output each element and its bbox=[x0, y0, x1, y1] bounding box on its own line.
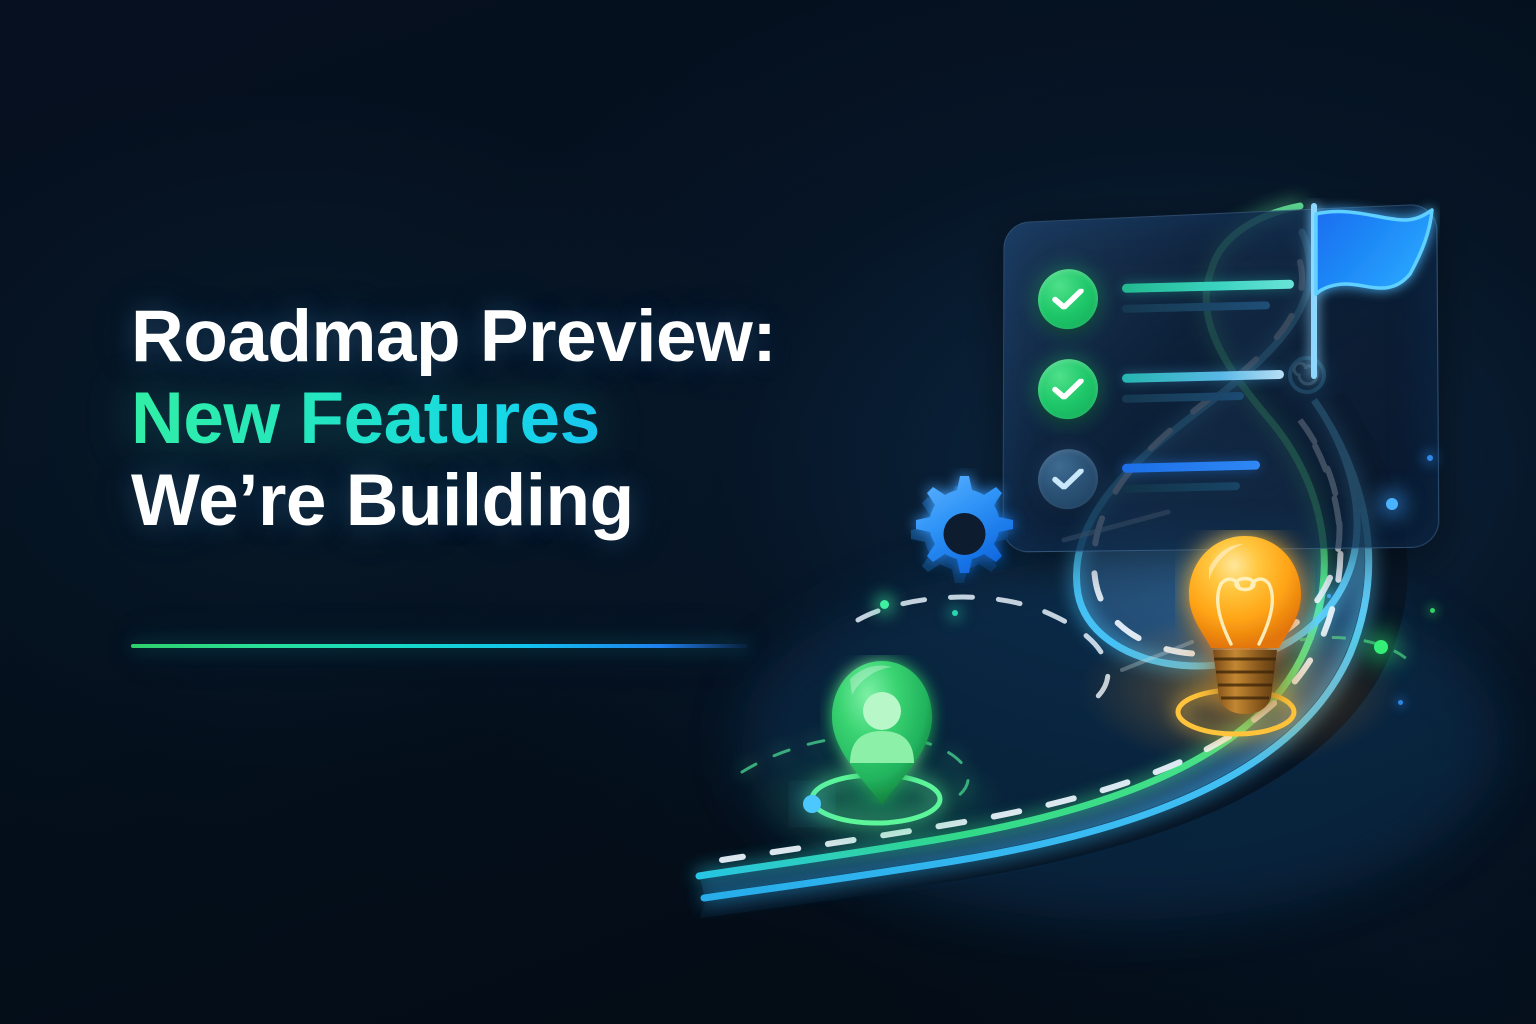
check-circle-complete[interactable] bbox=[1038, 268, 1098, 329]
checklist-line-secondary bbox=[1122, 391, 1244, 402]
check-icon bbox=[1052, 289, 1084, 310]
pin-ring-spark bbox=[803, 795, 821, 813]
check-icon bbox=[1052, 469, 1084, 490]
particle bbox=[880, 600, 889, 609]
checklist-line-secondary bbox=[1122, 301, 1270, 313]
checklist-line-primary bbox=[1122, 279, 1294, 292]
bulb-glass bbox=[1189, 536, 1301, 648]
particle bbox=[1398, 700, 1403, 705]
lightbulb-icon[interactable] bbox=[1175, 530, 1315, 730]
headline-line-1: Roadmap Preview: bbox=[131, 296, 891, 378]
headline-block: Roadmap Preview: New Features We’re Buil… bbox=[131, 296, 891, 541]
headline-underline bbox=[131, 644, 748, 648]
banner-canvas: Roadmap Preview: New Features We’re Buil… bbox=[0, 0, 1536, 1024]
checklist-line-secondary bbox=[1122, 481, 1240, 492]
particle bbox=[952, 610, 958, 616]
checklist-line-primary bbox=[1122, 460, 1260, 472]
headline-line-3: We’re Building bbox=[131, 460, 891, 542]
particle bbox=[1327, 594, 1331, 598]
particle bbox=[1386, 498, 1398, 510]
check-circle-complete[interactable] bbox=[1038, 358, 1098, 419]
particle bbox=[1374, 640, 1388, 654]
checklist-line-primary bbox=[1122, 369, 1284, 382]
check-circle-pending[interactable] bbox=[1038, 448, 1098, 509]
flag-icon[interactable] bbox=[1290, 198, 1440, 398]
checklist-text bbox=[1122, 458, 1358, 493]
flag-banner bbox=[1316, 210, 1432, 294]
gear-icon[interactable] bbox=[892, 468, 1032, 608]
headline-line-2: New Features bbox=[131, 378, 891, 460]
user-location-pin[interactable] bbox=[820, 655, 945, 835]
particle bbox=[1430, 608, 1435, 613]
particle bbox=[1427, 455, 1433, 461]
check-icon bbox=[1052, 379, 1084, 400]
checklist-row[interactable] bbox=[1038, 442, 1358, 510]
